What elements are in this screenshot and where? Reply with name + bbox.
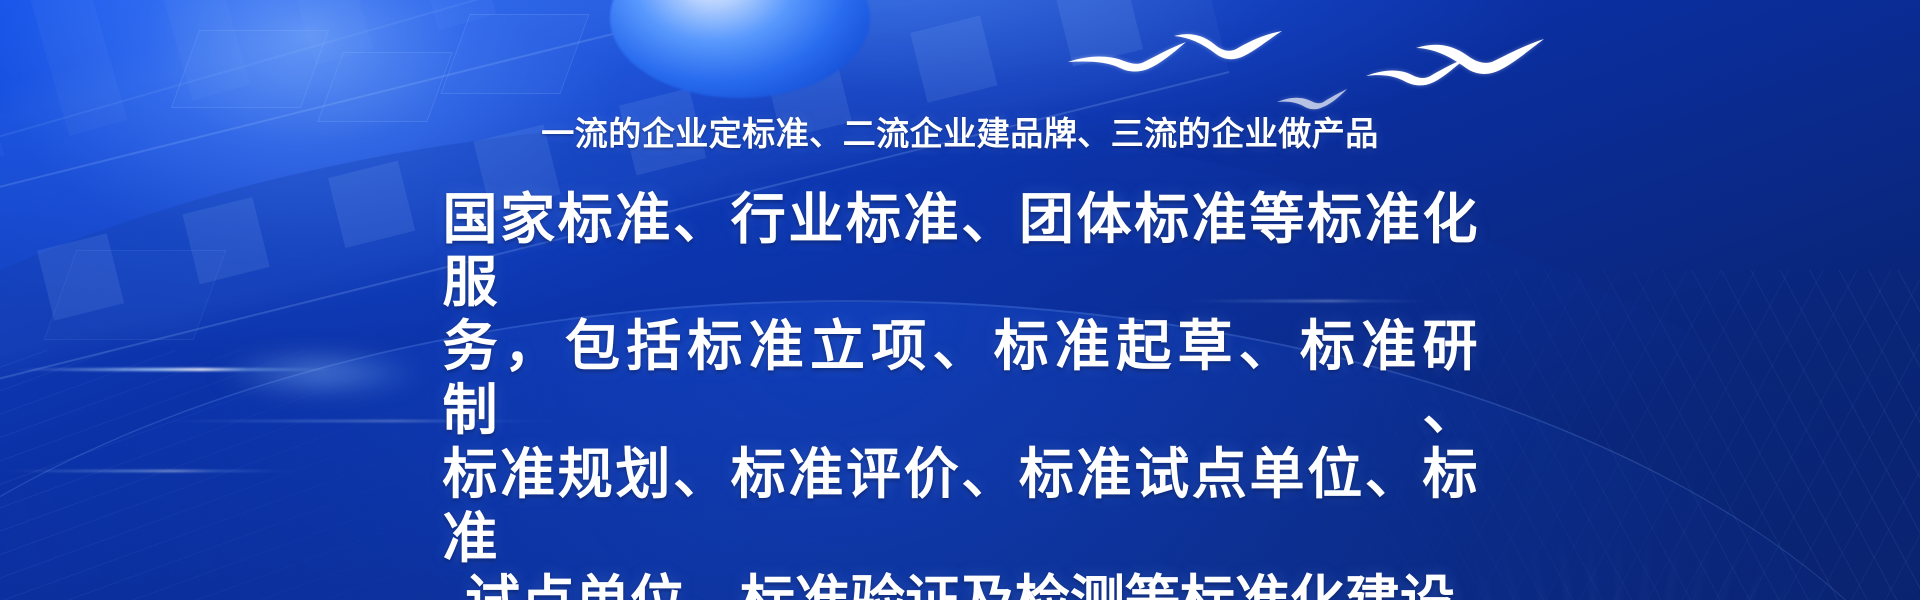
banner-subheadline: 一流的企业定标准、二流企业建品牌、三流的企业做产品 (541, 114, 1379, 154)
banner-headline: 国家标准、行业标准、团体标准等标准化服 务，包括标准立项、标准起草、标准研制、 … (443, 188, 1478, 600)
promo-banner: 一流的企业定标准、二流企业建品牌、三流的企业做产品 国家标准、行业标准、团体标准… (0, 0, 1920, 600)
headline-line-2: 务，包括标准立项、标准起草、标准研制、 (443, 315, 1478, 443)
banner-content: 一流的企业定标准、二流企业建品牌、三流的企业做产品 国家标准、行业标准、团体标准… (0, 0, 1920, 600)
headline-line-3: 标准规划、标准评价、标准试点单位、标准 (443, 443, 1478, 571)
headline-line-4: 试点单位、标准验证及检测等标准化建设 (443, 570, 1478, 600)
headline-line-1: 国家标准、行业标准、团体标准等标准化服 (443, 188, 1478, 316)
